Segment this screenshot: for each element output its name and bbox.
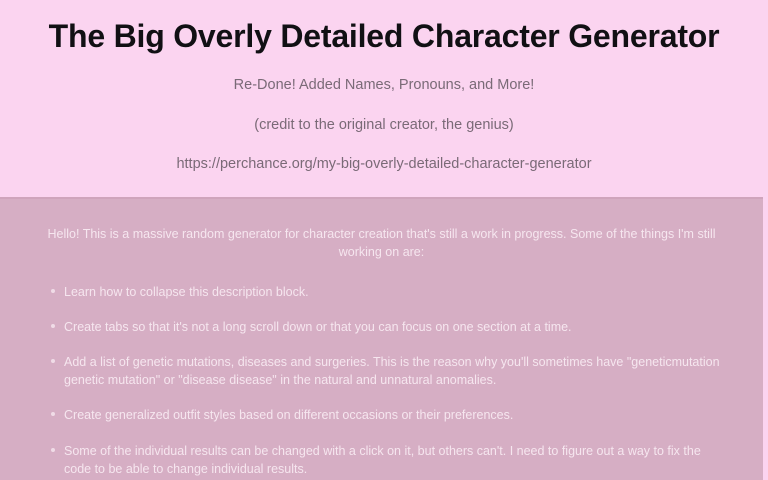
subtitle-source-url[interactable]: https://perchance.org/my-big-overly-deta… — [20, 135, 748, 175]
subtitle-tagline: Re-Done! Added Names, Pronouns, and More… — [20, 56, 748, 96]
list-item: Some of the individual results can be ch… — [51, 442, 731, 478]
list-item-label: Add a list of genetic mutations, disease… — [64, 355, 720, 387]
list-item: Learn how to collapse this description b… — [51, 283, 731, 301]
list-item-label: Create tabs so that it's not a long scro… — [64, 320, 572, 334]
page-header: The Big Overly Detailed Character Genera… — [0, 0, 768, 197]
list-item: Create tabs so that it's not a long scro… — [51, 318, 731, 336]
list-item-label: Create generalized outfit styles based o… — [64, 408, 513, 422]
page-root: The Big Overly Detailed Character Genera… — [0, 0, 768, 480]
description-block: Hello! This is a massive random generato… — [0, 197, 763, 480]
bullet-icon — [51, 289, 55, 293]
bullet-icon — [51, 359, 55, 363]
bullet-icon — [51, 324, 55, 328]
list-item: Add a list of genetic mutations, disease… — [51, 353, 731, 389]
bullet-icon — [51, 448, 55, 452]
bullet-icon — [51, 412, 55, 416]
list-item-label: Learn how to collapse this description b… — [64, 285, 309, 299]
page-title: The Big Overly Detailed Character Genera… — [20, 16, 748, 56]
todo-list: Learn how to collapse this description b… — [32, 283, 731, 478]
description-intro: Hello! This is a massive random generato… — [32, 225, 731, 261]
subtitle-credit: (credit to the original creator, the gen… — [20, 96, 748, 136]
list-item: Create generalized outfit styles based o… — [51, 406, 731, 424]
list-item-label: Some of the individual results can be ch… — [64, 444, 701, 476]
